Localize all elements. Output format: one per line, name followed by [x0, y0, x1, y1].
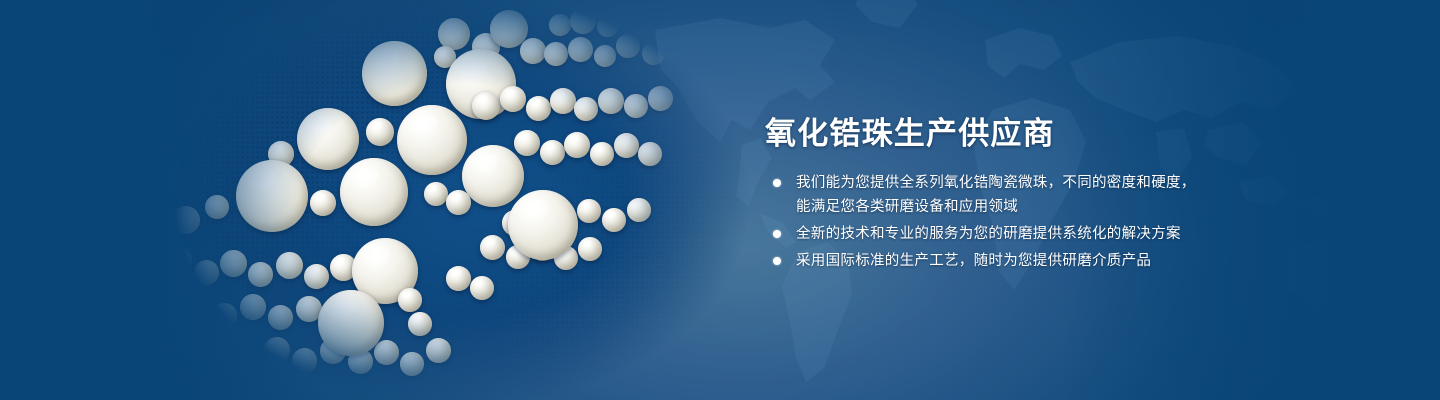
- zirconia-bead: [648, 86, 673, 111]
- zirconia-bead: [264, 337, 290, 363]
- zirconia-bead: [666, 33, 690, 57]
- banner-content: 氧化锆珠生产供应商 我们能为您提供全系列氧化锆陶瓷微珠，不同的密度和硬度，能满足…: [765, 0, 1385, 400]
- list-item: 全新的技术和专业的服务为您的研磨提供系统化的解决方案: [767, 222, 1367, 246]
- zirconia-bead: [574, 97, 598, 121]
- zirconia-bead: [240, 294, 266, 320]
- page-title: 氧化锆珠生产供应商: [765, 108, 1055, 153]
- zirconia-bead: [236, 346, 261, 371]
- zirconia-bead: [366, 118, 394, 146]
- zirconia-bead: [446, 190, 471, 215]
- zirconia-bead: [446, 266, 471, 291]
- zirconia-bead: [220, 250, 247, 277]
- zirconia-bead: [194, 260, 219, 285]
- zirconia-bead: [663, 3, 686, 26]
- list-item: 采用国际标准的生产工艺，随时为您提供研磨介质产品: [767, 249, 1367, 273]
- zirconia-bead: [540, 140, 565, 165]
- zirconia-bead: [508, 190, 578, 260]
- zirconia-bead: [424, 182, 448, 206]
- zirconia-bead: [577, 199, 601, 223]
- zirconia-bead: [594, 45, 616, 67]
- feature-bullet-list: 我们能为您提供全系列氧化锆陶瓷微珠，不同的密度和硬度，能满足您各类研磨设备和应用…: [767, 171, 1367, 276]
- zirconia-bead: [642, 42, 665, 65]
- zirconia-bead: [292, 348, 317, 373]
- zirconia-bead: [597, 16, 618, 37]
- zirconia-bead: [462, 145, 524, 207]
- zirconia-bead: [568, 37, 593, 62]
- zirconia-beads-photo: [150, 0, 750, 400]
- zirconia-bead: [500, 86, 526, 112]
- list-item-line2: 能满足您各类研磨设备和应用领域: [796, 195, 1367, 219]
- zirconia-bead: [205, 195, 229, 219]
- zirconia-bead: [172, 206, 200, 234]
- zirconia-bead: [520, 38, 546, 64]
- zirconia-bead: [570, 8, 596, 34]
- zirconia-bead: [426, 338, 451, 363]
- bullet-dot-icon: [773, 257, 781, 265]
- zirconia-bead: [514, 130, 540, 156]
- zirconia-bead: [480, 235, 505, 260]
- zirconia-bead: [549, 14, 571, 36]
- zirconia-bead: [578, 237, 602, 261]
- list-item: 我们能为您提供全系列氧化锆陶瓷微珠，不同的密度和硬度，能满足您各类研磨设备和应用…: [767, 171, 1367, 219]
- zirconia-bead: [297, 108, 359, 170]
- zirconia-bead: [544, 42, 568, 66]
- zirconia-bead: [212, 303, 237, 328]
- zirconia-bead: [616, 34, 640, 58]
- zirconia-bead: [318, 290, 384, 356]
- zirconia-bead: [408, 312, 432, 336]
- zirconia-bead: [470, 276, 494, 300]
- list-item-line1: 采用国际标准的生产工艺，随时为您提供研磨介质产品: [796, 253, 1151, 269]
- zirconia-bead: [616, 5, 640, 29]
- zirconia-bead: [602, 208, 626, 232]
- zirconia-bead: [268, 305, 293, 330]
- zirconia-bead: [184, 292, 210, 318]
- zirconia-bead: [627, 198, 651, 222]
- zirconia-bead: [276, 252, 303, 279]
- zirconia-bead: [614, 133, 639, 158]
- zirconia-bead: [642, 12, 664, 34]
- zirconia-bead: [564, 132, 590, 158]
- zirconia-bead: [236, 160, 308, 232]
- zirconia-bead: [304, 264, 329, 289]
- zirconia-bead: [400, 352, 424, 376]
- zirconia-bead: [164, 247, 192, 275]
- zirconia-bead: [638, 142, 662, 166]
- hero-banner: 氧化锆珠生产供应商 我们能为您提供全系列氧化锆陶瓷微珠，不同的密度和硬度，能满足…: [0, 0, 1440, 400]
- zirconia-bead: [598, 88, 624, 114]
- zirconia-bead: [398, 288, 422, 312]
- zirconia-bead: [624, 94, 648, 118]
- zirconia-bead: [208, 336, 234, 362]
- zirconia-bead: [472, 92, 500, 120]
- zirconia-bead: [248, 262, 273, 287]
- zirconia-bead: [374, 340, 399, 365]
- zirconia-bead: [362, 41, 427, 106]
- zirconia-bead: [590, 142, 614, 166]
- zirconia-bead: [526, 96, 551, 121]
- zirconia-bead: [397, 105, 467, 175]
- zirconia-bead: [550, 88, 576, 114]
- zirconia-bead: [340, 158, 408, 226]
- bullet-dot-icon: [773, 179, 781, 187]
- list-item-line1: 我们能为您提供全系列氧化锆陶瓷微珠，不同的密度和硬度，: [796, 175, 1196, 191]
- bullet-dot-icon: [773, 230, 781, 238]
- zirconia-bead: [310, 190, 336, 216]
- list-item-line1: 全新的技术和专业的服务为您的研磨提供系统化的解决方案: [796, 226, 1181, 242]
